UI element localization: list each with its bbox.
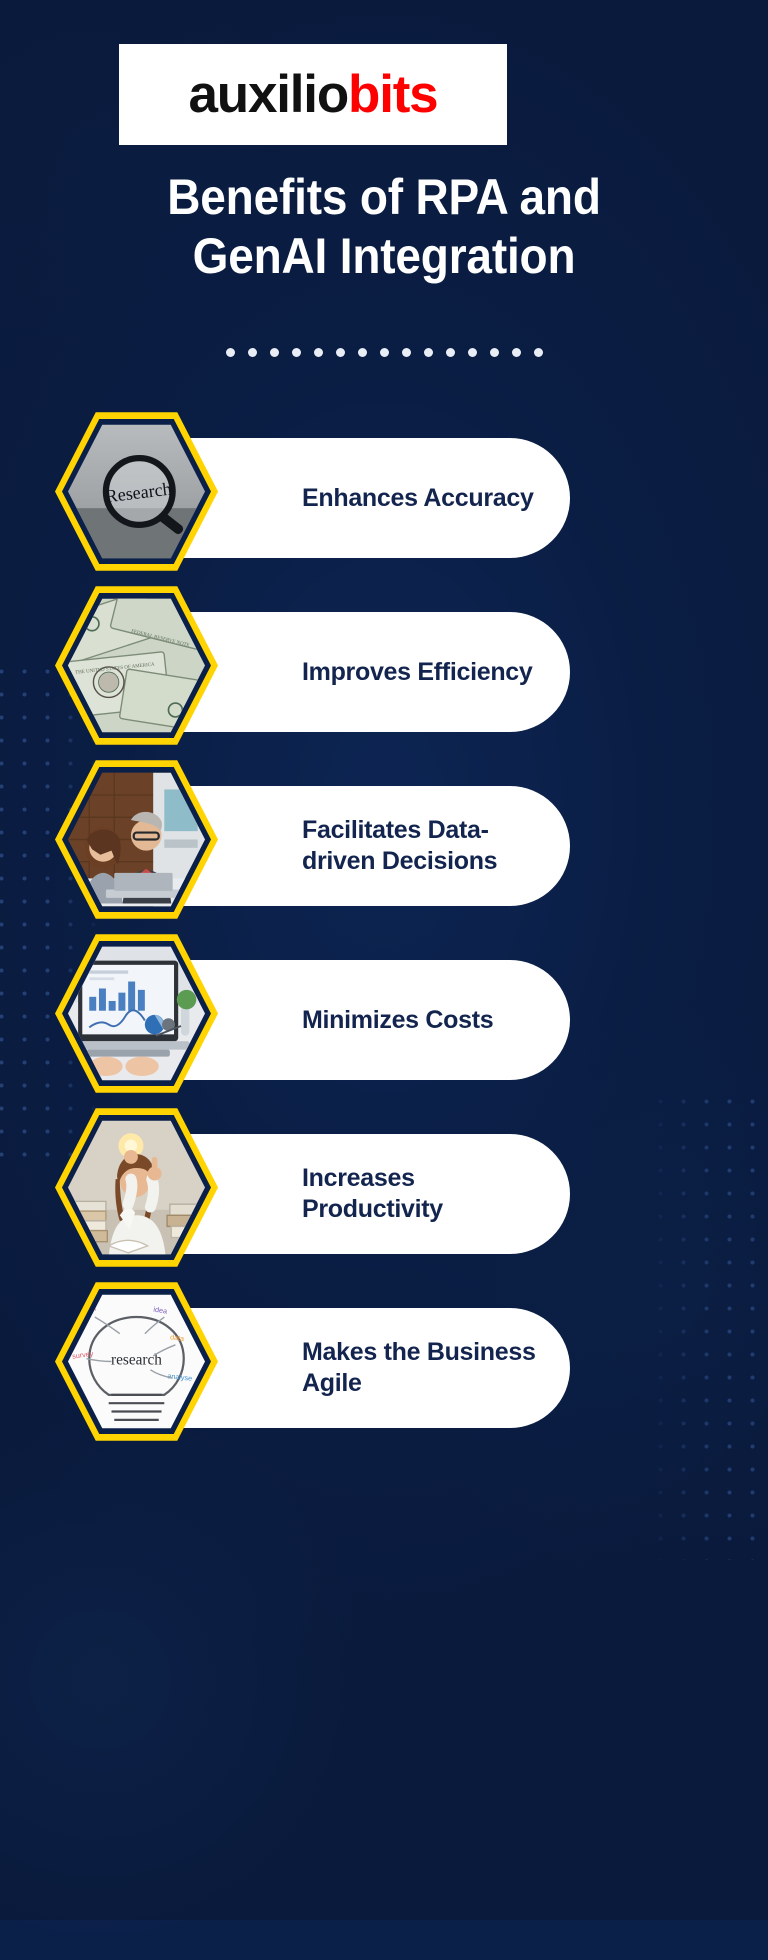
benefit-label: Facilitates Data-driven Decisions bbox=[302, 815, 552, 877]
divider-dot bbox=[358, 348, 367, 357]
page-title-line-2: GenAI Integration bbox=[31, 227, 738, 286]
divider-dot bbox=[248, 348, 257, 357]
benefit-hexagon[interactable]: Research bbox=[55, 409, 218, 574]
divider-dot bbox=[490, 348, 499, 357]
divider-dot bbox=[534, 348, 543, 357]
benefit-label: Enhances Accuracy bbox=[302, 483, 534, 514]
benefit-hexagon[interactable]: research vision survey idea data analyse bbox=[55, 1279, 218, 1444]
divider-dot bbox=[226, 348, 235, 357]
benefit-hexagon[interactable] bbox=[55, 1105, 218, 1270]
benefit-label: Increases Productivity bbox=[302, 1163, 552, 1225]
divider-dot bbox=[446, 348, 455, 357]
dot-divider bbox=[0, 348, 768, 357]
benefit-label: Minimizes Costs bbox=[302, 1005, 493, 1036]
divider-dot bbox=[270, 348, 279, 357]
benefit-row[interactable]: Facilitates Data-driven Decisions bbox=[0, 778, 768, 952]
divider-dot bbox=[314, 348, 323, 357]
benefit-label: Improves Efficiency bbox=[302, 657, 533, 688]
benefit-label: Makes the Business Agile bbox=[302, 1337, 552, 1399]
divider-dot bbox=[292, 348, 301, 357]
svg-text:research: research bbox=[111, 1351, 162, 1368]
brand-logo-text: auxiliobits bbox=[189, 68, 438, 121]
benefit-row[interactable]: Improves Efficiency THE UNITED STATES OF… bbox=[0, 604, 768, 778]
svg-text:data: data bbox=[170, 1332, 186, 1343]
page-title: Benefits of RPA and GenAI Integration bbox=[31, 168, 738, 286]
brand-logo: auxiliobits bbox=[119, 44, 507, 145]
benefit-row[interactable]: Makes the Business Agile research vision… bbox=[0, 1300, 768, 1474]
brand-logo-primary: auxilio bbox=[189, 65, 348, 124]
divider-dot bbox=[380, 348, 389, 357]
benefit-row[interactable]: Increases Productivity bbox=[0, 1126, 768, 1300]
divider-dot bbox=[468, 348, 477, 357]
divider-dot bbox=[424, 348, 433, 357]
benefit-hexagon[interactable] bbox=[55, 931, 218, 1096]
benefit-row[interactable]: Minimizes Costs bbox=[0, 952, 768, 1126]
divider-dot bbox=[402, 348, 411, 357]
page-title-line-1: Benefits of RPA and bbox=[167, 169, 601, 225]
benefit-hexagon[interactable] bbox=[55, 757, 218, 922]
brand-logo-accent: bits bbox=[348, 65, 437, 124]
divider-dot bbox=[512, 348, 521, 357]
divider-dot bbox=[336, 348, 345, 357]
benefit-row[interactable]: Enhances Accuracy Research bbox=[0, 430, 768, 604]
benefit-hexagon[interactable]: THE UNITED STATES OF AMERICA FEDERAL RES… bbox=[55, 583, 218, 748]
